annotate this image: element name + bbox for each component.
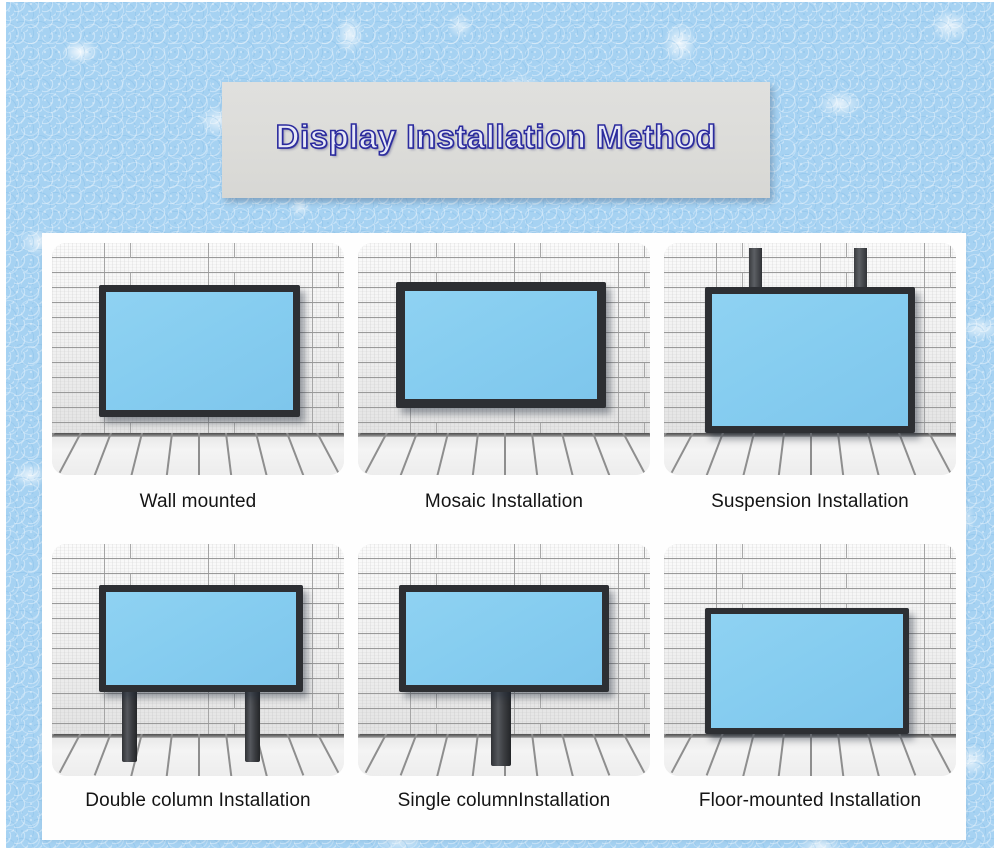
led-display-screen: [396, 282, 606, 407]
installation-panel-grid: Wall mounted: [42, 233, 966, 840]
floor-plank: [706, 734, 727, 776]
panel-caption: Floor-mounted Installation: [699, 790, 921, 812]
floor-plank: [338, 433, 344, 470]
floor-plank: [165, 433, 174, 475]
floor-plank: [358, 433, 366, 470]
floor-plank: [198, 433, 200, 475]
illustration-floor-mounted-installation: [664, 544, 956, 776]
floor-plank: [810, 433, 812, 475]
screen-surface: [711, 614, 903, 727]
panel-mosaic-installation[interactable]: Mosaic Installation: [358, 243, 650, 540]
illustration-mosaic-installation: [358, 243, 650, 475]
floor-plank: [129, 433, 144, 475]
title-banner: Display Installation Method: [222, 82, 770, 198]
panel-wall-mounted[interactable]: Wall mounted: [52, 243, 344, 540]
floor-plank: [365, 433, 392, 473]
screen-surface: [406, 592, 602, 685]
floor-plank: [283, 433, 304, 475]
floor-plank: [589, 433, 610, 475]
illustration-double-column-installation: [52, 544, 344, 776]
floor-plank: [777, 734, 786, 776]
panels-card: Wall mounted: [42, 233, 966, 840]
floor-plank: [94, 734, 115, 776]
floor-plank: [589, 734, 610, 776]
wood-floor: [664, 433, 956, 475]
floor-plank: [530, 433, 539, 475]
floor-plank: [52, 734, 60, 771]
floor-plank: [165, 734, 174, 776]
support-column-right: [245, 687, 260, 761]
screen-surface: [712, 294, 908, 426]
floor-plank: [706, 433, 727, 475]
floor-plank: [741, 433, 756, 475]
wood-floor: [664, 734, 956, 776]
led-display-screen: [99, 285, 300, 417]
floor-plank: [618, 433, 645, 473]
floor-plank: [198, 734, 200, 776]
floor-plank: [224, 433, 233, 475]
floor-plank: [504, 433, 506, 475]
floor-plank: [741, 734, 756, 776]
floor-plank: [810, 734, 812, 776]
floor-plank: [312, 734, 339, 774]
floor-plank: [435, 734, 450, 776]
floor-plank: [59, 734, 86, 774]
floor-plank: [253, 433, 268, 475]
screen-surface: [106, 292, 293, 410]
support-column-left: [122, 687, 137, 761]
floor-plank: [365, 734, 392, 774]
illustration-wall-mounted: [52, 243, 344, 475]
screen-surface: [106, 592, 296, 685]
floor-plank: [358, 734, 366, 771]
wood-floor: [52, 734, 344, 776]
floor-plank: [777, 433, 786, 475]
floor-plank: [664, 433, 672, 470]
floor-plank: [618, 734, 645, 774]
floor-plank: [664, 734, 672, 771]
floor-plank: [471, 433, 480, 475]
led-display-screen: [99, 585, 303, 692]
panel-double-column-installation[interactable]: Double column Installation: [52, 544, 344, 841]
page-title: Display Installation Method: [276, 118, 717, 156]
panel-single-column-installation[interactable]: Single columnInstallation: [358, 544, 650, 841]
floor-plank: [559, 433, 574, 475]
floor-plank: [559, 734, 574, 776]
floor-plank: [435, 433, 450, 475]
floor-plank: [471, 734, 480, 776]
floor-plank: [895, 734, 916, 776]
floor-plank: [836, 433, 845, 475]
panel-floor-mounted-installation[interactable]: Floor-mounted Installation: [664, 544, 956, 841]
floor-plank: [950, 433, 956, 470]
led-display-screen: [705, 287, 915, 433]
floor-plank: [671, 433, 698, 473]
floor-plank: [644, 433, 650, 470]
led-display-screen: [705, 608, 909, 733]
floor-plank: [400, 734, 421, 776]
wood-floor: [52, 433, 344, 475]
screen-surface: [405, 291, 597, 398]
floor-plank: [924, 734, 951, 774]
suspension-rod-right: [854, 248, 867, 290]
illustration-suspension-installation: [664, 243, 956, 475]
panel-caption: Mosaic Installation: [425, 491, 583, 513]
floor-plank: [312, 433, 339, 473]
floor-plank: [865, 734, 880, 776]
floor-plank: [865, 433, 880, 475]
floor-plank: [52, 433, 60, 470]
floor-plank: [644, 734, 650, 771]
floor-plank: [836, 734, 845, 776]
suspension-rod-left: [749, 248, 762, 290]
installation-method-infographic: Display Installation Method: [0, 0, 1000, 864]
panel-caption: Wall mounted: [140, 491, 257, 513]
floor-plank: [400, 433, 421, 475]
floor-plank: [924, 433, 951, 473]
floor-plank: [94, 433, 115, 475]
led-display-screen: [399, 585, 609, 692]
floor-plank: [283, 734, 304, 776]
panel-caption: Double column Installation: [85, 790, 310, 812]
floor-plank: [671, 734, 698, 774]
panel-suspension-installation[interactable]: Suspension Installation: [664, 243, 956, 540]
floor-plank: [224, 734, 233, 776]
panel-caption: Single columnInstallation: [398, 790, 611, 812]
floor-plank: [895, 433, 916, 475]
panel-caption: Suspension Installation: [711, 491, 909, 513]
support-column-center: [491, 687, 511, 766]
illustration-single-column-installation: [358, 544, 650, 776]
floor-plank: [59, 433, 86, 473]
floor-plank: [338, 734, 344, 771]
floor-plank: [530, 734, 539, 776]
wood-floor: [358, 433, 650, 475]
floor-plank: [950, 734, 956, 771]
